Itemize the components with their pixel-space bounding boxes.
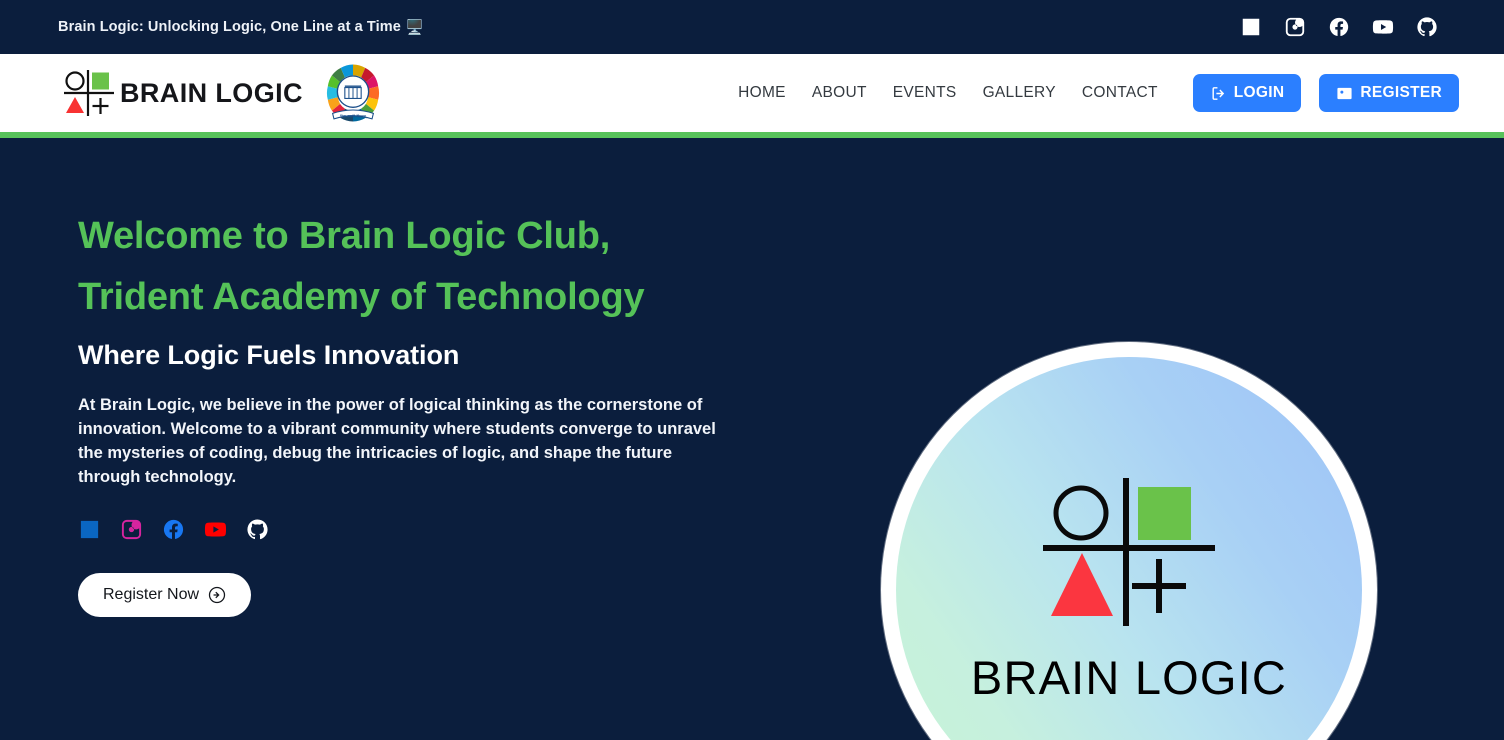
arrow-right-circle-icon bbox=[208, 586, 226, 604]
hero-section: Welcome to Brain Logic Club, Trident Aca… bbox=[0, 138, 1504, 740]
facebook-icon[interactable] bbox=[162, 518, 185, 541]
register-now-label: Register Now bbox=[103, 586, 199, 604]
hero-title-line-2: Trident Academy of Technology bbox=[78, 267, 758, 328]
nav-item-home[interactable]: HOME bbox=[725, 84, 799, 102]
top-bar-social-links bbox=[1240, 16, 1438, 38]
sign-in-icon bbox=[1210, 85, 1227, 102]
tagline: Brain Logic: Unlocking Logic, One Line a… bbox=[58, 19, 424, 36]
brand[interactable]: BRAIN LOGIC bbox=[62, 59, 387, 127]
top-bar: Brain Logic: Unlocking Logic, One Line a… bbox=[0, 0, 1504, 54]
brain-logic-logo-icon bbox=[62, 68, 116, 118]
hero-subtitle: Where Logic Fuels Innovation bbox=[78, 340, 758, 371]
register-button-label: REGISTER bbox=[1360, 84, 1442, 102]
nav-item-events[interactable]: EVENTS bbox=[880, 84, 970, 102]
site-header: BRAIN LOGIC bbox=[0, 54, 1504, 132]
login-button[interactable]: LOGIN bbox=[1193, 74, 1302, 112]
hero-circle-inner: BRAIN LOGIC bbox=[896, 357, 1362, 740]
linkedin-icon[interactable] bbox=[1240, 16, 1262, 38]
register-button[interactable]: REGISTER bbox=[1319, 74, 1459, 112]
nav-item-gallery[interactable]: GALLERY bbox=[970, 84, 1069, 102]
tagline-text: Brain Logic: Unlocking Logic, One Line a… bbox=[58, 19, 401, 35]
github-icon[interactable] bbox=[1416, 16, 1438, 38]
nav-item-about[interactable]: ABOUT bbox=[799, 84, 880, 102]
desktop-computer-icon: 🖥️ bbox=[406, 19, 424, 36]
svg-text:विद्या ददाति विनयम्: विद्या ददाति विनयम् bbox=[340, 113, 367, 118]
hero-social-links bbox=[78, 518, 758, 541]
register-now-button[interactable]: Register Now bbox=[78, 573, 251, 617]
hero-content: Welcome to Brain Logic Club, Trident Aca… bbox=[58, 138, 758, 617]
hero-circle-ring: BRAIN LOGIC bbox=[881, 342, 1377, 740]
login-button-label: LOGIN bbox=[1234, 84, 1285, 102]
instagram-icon[interactable] bbox=[1284, 16, 1306, 38]
id-card-icon bbox=[1336, 85, 1353, 102]
youtube-icon[interactable] bbox=[1372, 16, 1394, 38]
college-seal-icon: विद्या ददाति विनयम् bbox=[319, 59, 387, 127]
hero-paragraph: At Brain Logic, we believe in the power … bbox=[78, 393, 718, 489]
youtube-icon[interactable] bbox=[204, 518, 227, 541]
nav-item-contact[interactable]: CONTACT bbox=[1069, 84, 1171, 102]
hero-title-line-1: Welcome to Brain Logic Club, bbox=[78, 206, 758, 267]
brain-logic-logo-large-icon bbox=[1041, 476, 1217, 628]
github-icon[interactable] bbox=[246, 518, 269, 541]
brand-name: BRAIN LOGIC bbox=[120, 78, 303, 109]
main-navigation: HOME ABOUT EVENTS GALLERY CONTACT LOGIN … bbox=[725, 74, 1459, 112]
linkedin-icon[interactable] bbox=[78, 518, 101, 541]
hero-circle-wordmark: BRAIN LOGIC bbox=[971, 650, 1287, 705]
hero-title: Welcome to Brain Logic Club, Trident Aca… bbox=[78, 206, 758, 328]
instagram-icon[interactable] bbox=[120, 518, 143, 541]
hero-graphic: BRAIN LOGIC bbox=[881, 342, 1377, 740]
facebook-icon[interactable] bbox=[1328, 16, 1350, 38]
